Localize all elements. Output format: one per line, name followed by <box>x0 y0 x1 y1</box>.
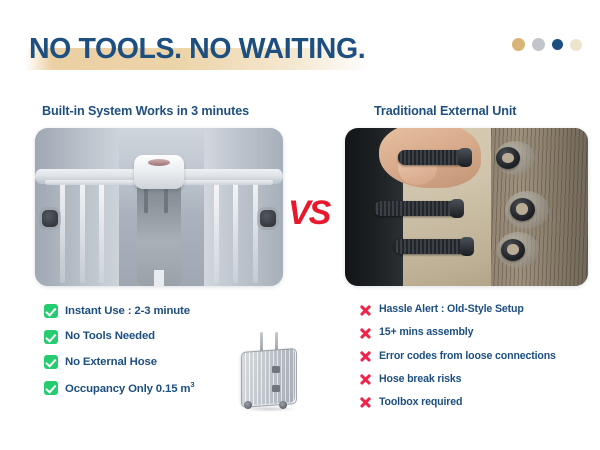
check-icon <box>44 330 58 344</box>
benefit-label: Instant Use : 2-3 minute <box>65 305 190 318</box>
drawback-label: Toolbox required <box>379 397 462 409</box>
right-column-heading: Traditional External Unit <box>374 104 516 118</box>
x-icon <box>358 373 372 387</box>
unit-prong <box>144 188 148 213</box>
cap-indicator-icon <box>148 159 170 166</box>
list-item: Error codes from loose connections <box>358 349 594 363</box>
suitcase-latch <box>272 385 280 392</box>
dot-cream-icon <box>570 39 582 51</box>
dot-navy-icon <box>552 39 563 50</box>
drawback-label: Error codes from loose connections <box>379 351 556 363</box>
suitcase-latch <box>272 366 280 373</box>
poster-header: NO TOOLS. NO WAITING. <box>0 0 600 86</box>
x-icon <box>358 349 372 363</box>
check-icon <box>44 355 58 369</box>
page-title: NO TOOLS. NO WAITING. <box>29 28 365 70</box>
connector-cap <box>460 237 474 256</box>
check-icon <box>44 381 58 395</box>
check-icon <box>44 304 58 318</box>
benefit-label: No Tools Needed <box>65 330 155 343</box>
suitcase-wheel <box>244 401 252 409</box>
wall-slat <box>60 175 65 282</box>
list-item: Instant Use : 2-3 minute <box>44 304 274 318</box>
wall-slat <box>80 175 85 282</box>
color-swatch-dots <box>512 38 582 51</box>
wall-slat <box>214 175 219 282</box>
wall-slat <box>253 175 258 282</box>
unit-prong <box>164 188 168 213</box>
drawbacks-list: Hassle Alert : Old-Style Setup 15+ mins … <box>358 303 594 410</box>
hose-connector <box>374 201 460 216</box>
wall-port <box>496 147 520 169</box>
wall-slat <box>233 175 238 282</box>
list-item: Hose break risks <box>358 373 594 387</box>
comparison-poster: NO TOOLS. NO WAITING. Built-in System Wo… <box>0 0 600 450</box>
list-item: Hassle Alert : Old-Style Setup <box>358 303 594 317</box>
hose-connector <box>398 150 468 165</box>
drawback-label: Hassle Alert : Old-Style Setup <box>379 304 524 316</box>
wall-port <box>501 239 525 261</box>
suitcase-wheel <box>279 401 287 409</box>
drawback-label: Hose break risks <box>379 374 461 386</box>
left-column-heading: Built-in System Works in 3 minutes <box>42 104 249 118</box>
x-icon <box>358 326 372 340</box>
x-icon <box>358 303 372 317</box>
wall-slat <box>99 175 104 282</box>
benefit-label: Occupancy Only 0.15 m3 <box>65 381 194 395</box>
dot-gray-icon <box>532 38 545 51</box>
side-knob-left <box>42 210 58 227</box>
superscript: 3 <box>190 380 194 389</box>
x-icon <box>358 396 372 410</box>
drawback-label: 15+ mins assembly <box>379 327 473 339</box>
external-unit-photo <box>345 128 588 286</box>
connector-cap <box>450 199 464 218</box>
water-unit-cap <box>134 155 184 189</box>
connector-cap <box>458 148 472 167</box>
list-item: 15+ mins assembly <box>358 326 594 340</box>
dot-gold-icon <box>512 38 525 51</box>
benefit-label: No External Hose <box>65 356 157 369</box>
suitcase-edge <box>241 348 297 408</box>
suitcase-illustration <box>232 330 308 412</box>
built-in-system-photo <box>35 128 283 286</box>
hose-connector <box>394 239 470 254</box>
page-title-wrapper: NO TOOLS. NO WAITING. <box>29 28 365 70</box>
wall-port <box>510 198 535 221</box>
list-item: Toolbox required <box>358 396 594 410</box>
versus-badge: VS <box>288 196 329 230</box>
side-knob-right <box>260 210 276 227</box>
cavity-wall-left <box>35 128 119 286</box>
